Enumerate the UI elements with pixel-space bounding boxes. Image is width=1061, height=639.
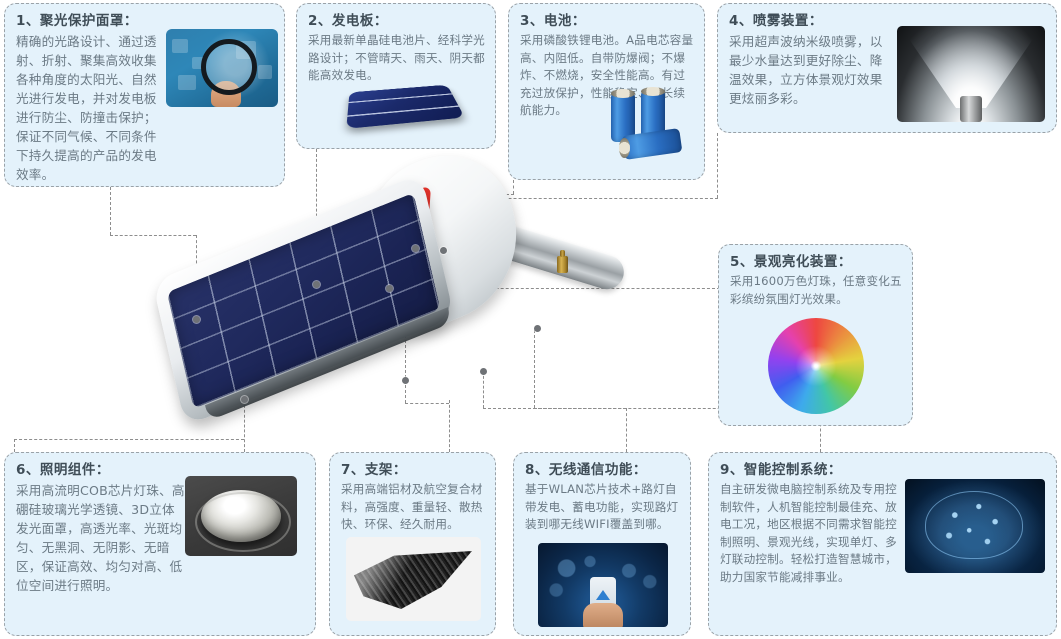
callout-box-6-lighting-module[interactable]: 6、照明组件： 采用高流明COB芯片灯珠、高硼硅玻璃光学透镜、3D立体发光面罩，… — [4, 452, 316, 636]
connector-line-6d — [14, 439, 15, 452]
callout-9-body: 自主研发微电脑控制系统及专用控制软件，人机智能控制最佳充、放电工况，地区根据不同… — [720, 481, 898, 586]
solar-cell-shape — [346, 85, 465, 129]
battery-terminal-1 — [611, 89, 635, 98]
diagram-canvas: 1、聚光保护面罩： 精确的光路设计、通过透射、折射、聚集高效收集各种角度的太阳光… — [0, 0, 1061, 639]
anchor-dot-panel-bottom — [241, 396, 248, 403]
anchor-dot-panel-top — [313, 281, 320, 288]
color-wheel-photo — [768, 318, 864, 414]
callout-box-4-spray-device[interactable]: 4、喷雾装置： 采用超声波纳米级喷雾，以最少水量达到更好除尘、降温效果，立方体景… — [717, 3, 1057, 133]
lithium-cells-photo — [605, 88, 697, 168]
solar-street-lamp-image — [150, 196, 620, 431]
anchor-dot-panel-left — [193, 316, 200, 323]
magnifier-photo — [166, 29, 278, 107]
brain-network-shape — [925, 491, 1023, 559]
callout-1-body: 精确的光路设计、通过透射、折射、聚集高效收集各种角度的太阳光、自然光进行发电，并… — [16, 32, 162, 184]
anchor-dot-wifi — [480, 368, 487, 375]
wifi-coverage-photo — [538, 543, 668, 627]
callout-box-8-wireless[interactable]: 8、无线通信功能： 基于WLAN芯片技术+路灯自带发电、蓄电功能，实现路灯装到哪… — [513, 452, 691, 636]
connector-line-1a — [110, 187, 111, 235]
callout-box-3-battery[interactable]: 3、电池： 采用磷酸铁锂电池。A品电芯容量高、内阻低。自带防爆阀；不爆炸、不燃烧… — [508, 3, 705, 180]
callout-2-title: 2、发电板： — [308, 12, 484, 30]
wifi-icon — [596, 590, 610, 600]
callout-6-body: 采用高流明COB芯片灯珠、高硼硅玻璃光学透镜、3D立体发光面罩，高透光率、光斑均… — [16, 481, 186, 595]
battery-terminal-3 — [619, 138, 630, 158]
bracket-highlight — [354, 551, 472, 609]
callout-5-title: 5、景观亮化装置： — [730, 253, 901, 271]
lens-rim-shape — [195, 492, 291, 552]
brass-spray-nozzle — [557, 256, 568, 273]
callout-7-body: 采用高端铝材及航空复合材料，高强度、重量轻、散热快、环保、经久耐用。 — [341, 481, 487, 534]
anchor-dot-pole — [534, 325, 541, 332]
magnifier-icon — [201, 39, 257, 95]
callout-box-9-smart-control[interactable]: 9、智能控制系统： 自主研发微电脑控制系统及专用控制软件，人机智能控制最佳充、放… — [708, 452, 1057, 636]
callout-1-title: 1、聚光保护面罩： — [16, 12, 273, 30]
anchor-dot-red-stripe — [386, 285, 393, 292]
callout-3-title: 3、电池： — [520, 12, 693, 30]
nozzle-stem-shape — [960, 96, 982, 122]
ultrasonic-mist-photo — [897, 26, 1045, 122]
connector-line-6c — [14, 439, 244, 440]
anchor-dot-housing-top — [412, 245, 419, 252]
optical-lens-photo — [185, 476, 297, 556]
callout-9-title: 9、智能控制系统： — [720, 461, 1045, 479]
lamp-panel-frame — [152, 173, 454, 426]
callout-8-body: 基于WLAN芯片技术+路灯自带发电、蓄电功能，实现路灯装到哪无线WIFI覆盖到哪… — [525, 481, 683, 534]
solar-cell-photo — [341, 70, 465, 140]
callout-5-body: 采用1600万色灯珠，任意变化五彩缤纷氛围灯光效果。 — [730, 273, 902, 308]
hand-shape — [583, 603, 623, 627]
callout-4-body: 采用超声波纳米级喷雾，以最少水量达到更好除尘、降温效果，立方体景观灯效果更炫丽多… — [729, 32, 891, 108]
connector-line-4a — [717, 133, 718, 198]
callout-box-2-solar-panel[interactable]: 2、发电板： 采用最新单晶硅电池片、经科学光路设计；不管晴天、雨天、阴天都能高效… — [296, 3, 496, 149]
connector-line-3a — [513, 180, 514, 194]
callout-8-title: 8、无线通信功能： — [525, 461, 679, 479]
callout-7-title: 7、支架： — [341, 461, 484, 479]
callout-box-5-landscape-lighting[interactable]: 5、景观亮化装置： 采用1600万色灯珠，任意变化五彩缤纷氛围灯光效果。 — [718, 244, 913, 426]
anchor-dot-nozzle — [440, 247, 447, 254]
callout-box-7-bracket[interactable]: 7、支架： 采用高端铝材及航空复合材料，高强度、重量轻、散热快、环保、经久耐用。 — [329, 452, 496, 636]
callout-box-1-light-mask[interactable]: 1、聚光保护面罩： 精确的光路设计、通过透射、折射、聚集高效收集各种角度的太阳光… — [4, 3, 285, 187]
connector-line-8c — [626, 408, 627, 452]
carbon-bracket-photo — [346, 537, 481, 621]
smart-city-brain-photo — [905, 479, 1045, 573]
battery-terminal-2 — [641, 87, 665, 96]
anchor-dot-bracket — [402, 377, 409, 384]
